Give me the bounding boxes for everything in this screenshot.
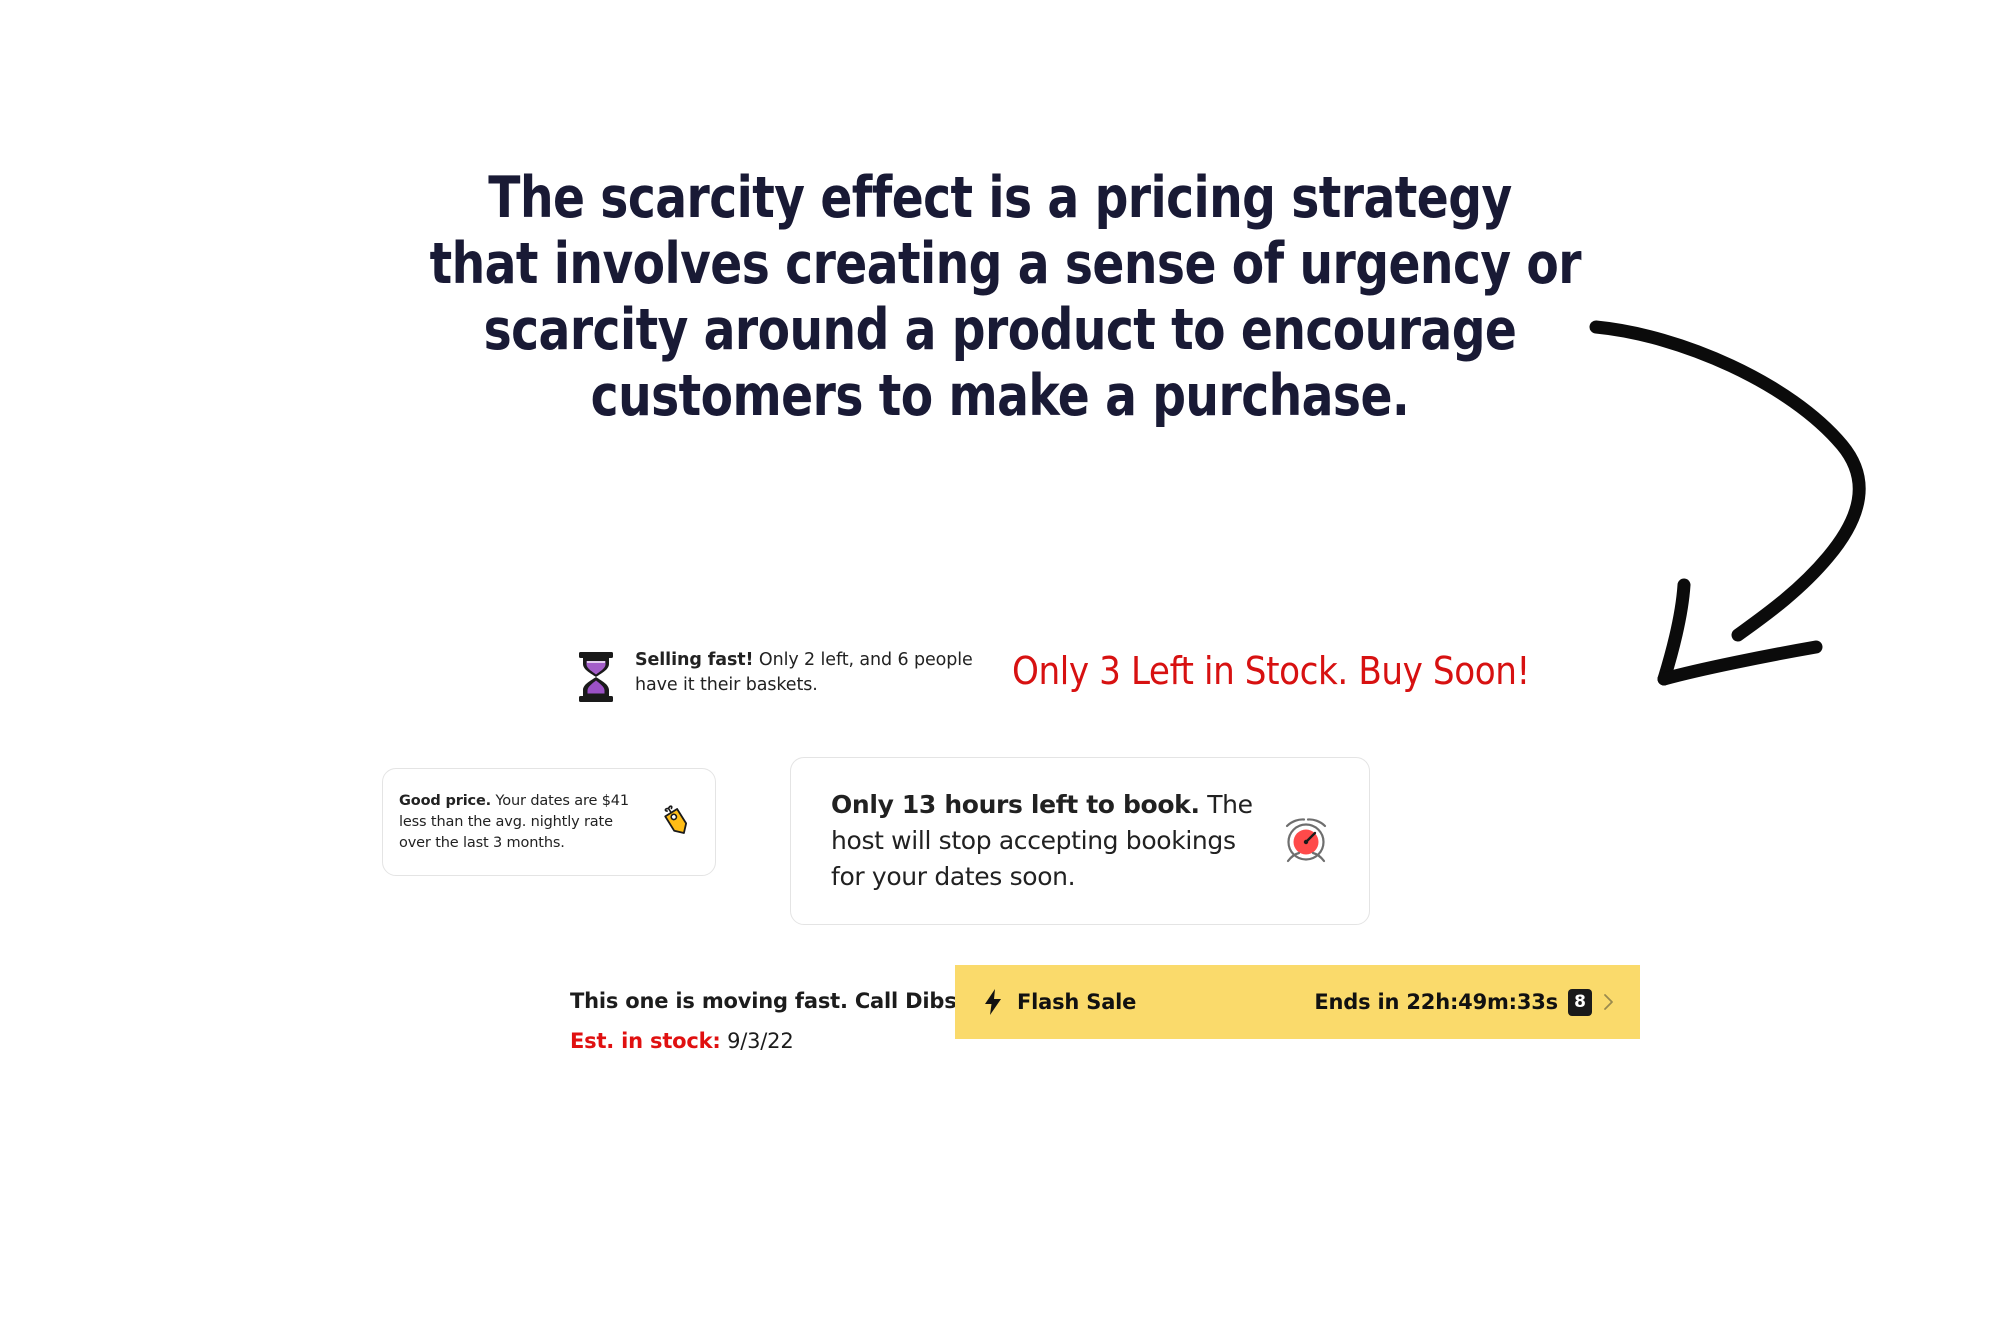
selling-fast-bold: Selling fast! xyxy=(635,650,753,670)
selling-fast-text: Selling fast! Only 2 left, and 6 people … xyxy=(635,648,995,698)
stock-banner: Only 3 Left in Stock. Buy Soon! xyxy=(1012,648,1530,694)
alarm-clock-icon xyxy=(1277,812,1335,870)
hours-left-bold: Only 13 hours left to book. xyxy=(831,790,1200,819)
page-title: The scarcity effect is a pricing strateg… xyxy=(430,165,1571,429)
flash-sale-right[interactable]: Ends in 22h:49m:33s 8 xyxy=(1314,989,1616,1016)
good-price-card: Good price. Your dates are $41 less than… xyxy=(382,768,716,876)
flash-sale-left: Flash Sale xyxy=(983,989,1136,1015)
headline-line-3: scarcity around a product to encourage xyxy=(430,297,1571,363)
headline-line-1: The scarcity effect is a pricing strateg… xyxy=(430,165,1571,231)
good-price-text: Good price. Your dates are $41 less than… xyxy=(399,791,649,854)
headline-line-4: customers to make a purchase. xyxy=(430,363,1571,429)
hourglass-icon xyxy=(575,650,617,704)
selling-fast-notice: Selling fast! Only 2 left, and 6 people … xyxy=(575,648,995,704)
chevron-right-icon[interactable] xyxy=(1602,992,1616,1012)
est-in-stock-label: Est. in stock: xyxy=(570,1029,721,1053)
good-price-bold: Good price. xyxy=(399,793,491,809)
flash-sale-timer: Ends in 22h:49m:33s xyxy=(1314,990,1558,1014)
scarcity-effect-slide: The scarcity effect is a pricing strateg… xyxy=(0,0,2000,1333)
flash-sale-label: Flash Sale xyxy=(1017,990,1136,1014)
hours-left-card: Only 13 hours left to book. The host wil… xyxy=(790,757,1370,925)
est-in-stock-row: Est. in stock: 9/3/22 xyxy=(570,1026,964,1057)
price-tag-icon xyxy=(657,802,697,842)
est-in-stock-value: 9/3/22 xyxy=(721,1029,794,1053)
lightning-bolt-icon xyxy=(983,989,1003,1015)
moving-fast-block: This one is moving fast. Call Dibs. Est.… xyxy=(570,986,964,1057)
curved-hand-drawn-arrow-down-left-icon xyxy=(1560,285,2000,725)
hours-left-text: Only 13 hours left to book. The host wil… xyxy=(831,787,1257,895)
flash-sale-badge: 8 xyxy=(1568,989,1592,1016)
headline-line-2: that involves creating a sense of urgenc… xyxy=(430,231,1571,297)
annotation-arrow xyxy=(1560,285,2000,725)
moving-fast-headline: This one is moving fast. Call Dibs. xyxy=(570,986,964,1017)
flash-sale-bar[interactable]: Flash Sale Ends in 22h:49m:33s 8 xyxy=(955,965,1640,1039)
